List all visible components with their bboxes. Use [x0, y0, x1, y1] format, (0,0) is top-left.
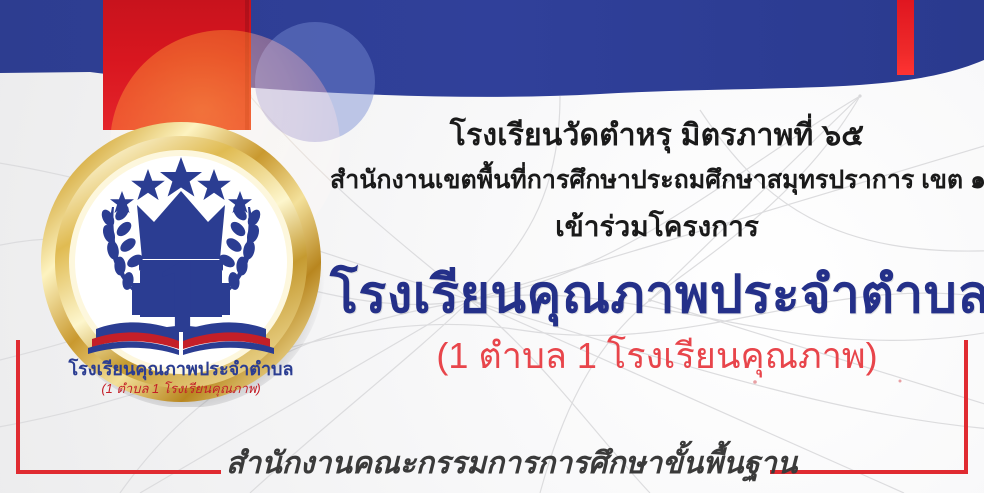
red-ribbon-left-edge — [245, 0, 249, 130]
certificate-banner: 1 โรงเรียนคุณภาพประจำตำบล (1 ตำบล 1 โรงเ… — [0, 0, 984, 493]
medal-caption-sub: (1 ตำบล 1 โรงเรียนคุณภาพ) — [101, 381, 260, 397]
red-ribbon-left — [103, 0, 251, 130]
school-name: โรงเรียนวัดตำหรุ มิตรภาพที่ ๖๕ — [330, 112, 984, 159]
medal-caption-main: โรงเรียนคุณภาพประจำตำบล — [67, 358, 293, 381]
frame-border-left — [16, 340, 20, 474]
office-name: สำนักงานเขตพื้นที่การศึกษาประถมศึกษาสมุท… — [330, 160, 984, 200]
medal-icon: 1 โรงเรียนคุณภาพประจำตำบล (1 ตำบล 1 โรงเ… — [36, 117, 326, 407]
join-label: เข้าร่วมโครงการ — [330, 205, 984, 249]
footer-agency: สำนักงานคณะกรรมการการศึกษาขั้นพื้นฐาน — [226, 440, 766, 487]
headline-block: โรงเรียนวัดตำหรุ มิตรภาพที่ ๖๕ สำนักงานเ… — [330, 0, 984, 493]
project-subtitle: (1 ตำบล 1 โรงเรียนคุณภาพ) — [330, 327, 984, 384]
frame-border-bottom-left — [16, 470, 221, 474]
project-title: โรงเรียนคุณภาพประจำตำบล — [330, 252, 984, 335]
